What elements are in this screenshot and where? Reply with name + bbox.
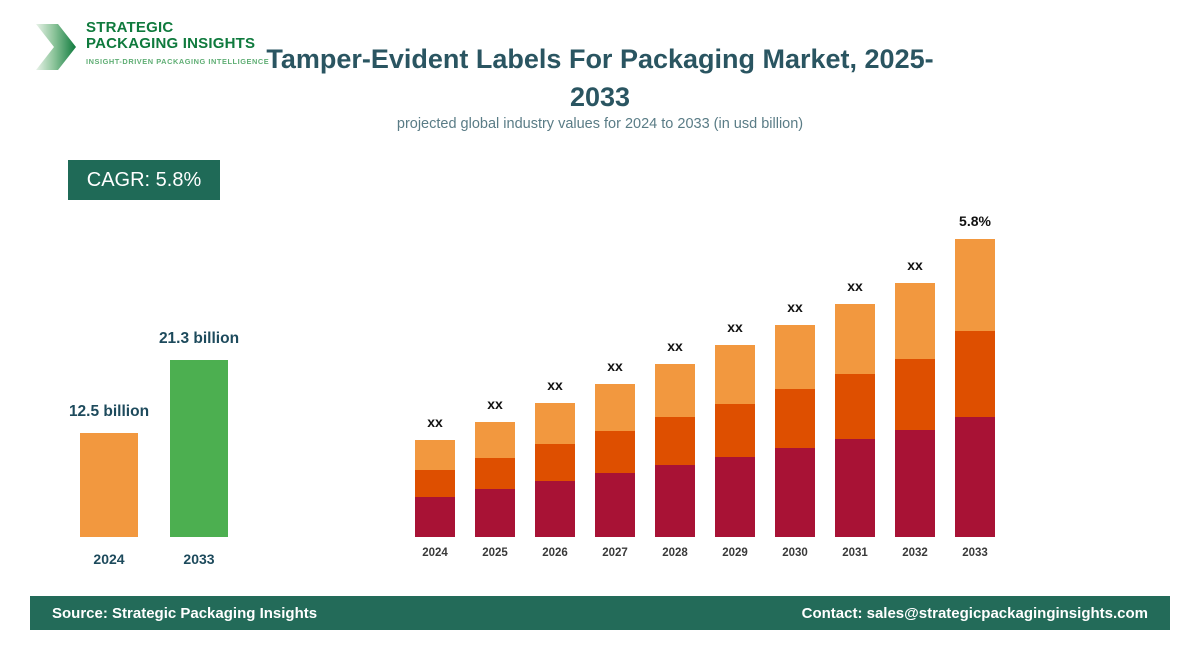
brand-logo: STRATEGIC PACKAGING INSIGHTS INSIGHT-DRI…: [30, 18, 260, 80]
bar-segment-segment-3-2027: [595, 384, 635, 431]
stacked-bar-2032: xx2032: [895, 283, 935, 537]
bar-segment-segment-3-2032: [895, 283, 935, 359]
stacked-bar-value-label-2026: xx: [510, 377, 600, 393]
bar-value-label-2024: 12.5 billion: [34, 403, 184, 421]
bar-segment-segment-1-2032: [895, 430, 935, 537]
bar-year-label-2024: 2024: [59, 551, 159, 567]
bar-segment-segment-3-2029: [715, 345, 755, 404]
stacked-bar-2028: xx2028: [655, 364, 695, 537]
bar-segment-segment-3-2031: [835, 304, 875, 374]
bar-segment-segment-2-2025: [475, 458, 515, 489]
footer-source: Source: Strategic Packaging Insights: [52, 605, 317, 622]
bar-segment-segment-1-2028: [655, 465, 695, 537]
stacked-bar-value-label-2033: 5.8%: [930, 213, 1020, 229]
bar-segment-segment-1-2027: [595, 473, 635, 537]
bar-segment-segment-1-2031: [835, 439, 875, 537]
bar-segment-segment-2-2024: [415, 470, 455, 497]
bar-segment-segment-1-2029: [715, 457, 755, 537]
bar-segment-segment-1-2024: [415, 497, 455, 537]
stacked-bar-value-label-2024: xx: [390, 414, 480, 430]
bar-segment-segment-2-2032: [895, 359, 935, 430]
chevron-logo-icon: [34, 22, 78, 72]
bar-2024: 12.5 billion2024: [80, 433, 138, 537]
bar-segment-segment-1-2030: [775, 448, 815, 537]
page-title: Tamper-Evident Labels For Packaging Mark…: [250, 40, 950, 116]
stacked-bar-2027: xx2027: [595, 384, 635, 537]
stacked-bar-2026: xx2026: [535, 403, 575, 537]
stacked-bar-value-label-2030: xx: [750, 299, 840, 315]
stacked-bar-value-label-2029: xx: [690, 319, 780, 335]
stacked-bar-value-label-2028: xx: [630, 338, 720, 354]
bar-segment-segment-2-2027: [595, 431, 635, 473]
bar-segment-segment-2-2029: [715, 404, 755, 457]
bar-segment-segment-3-2024: [415, 440, 455, 470]
stacked-bar-2025: xx2025: [475, 422, 515, 537]
bar-segment-segment-2-2028: [655, 417, 695, 465]
logo-line-2: PACKAGING INSIGHTS: [86, 36, 261, 52]
bar-segment-segment-2-2033: [955, 331, 995, 417]
segment-forecast-chart: xx2024xx2025xx2026xx2027xx2028xx2029xx20…: [405, 200, 1005, 575]
logo-tagline: INSIGHT-DRIVEN PACKAGING INTELLIGENCE: [86, 57, 261, 66]
bar-value-label-2033: 21.3 billion: [124, 330, 274, 348]
bar-segment-segment-3-2026: [535, 403, 575, 444]
cagr-badge: CAGR: 5.8%: [68, 160, 220, 200]
stacked-bar-2024: xx2024: [415, 440, 455, 537]
bar-2033: 21.3 billion2033: [170, 360, 228, 538]
bar-segment-segment-3-2033: [955, 239, 995, 331]
endpoint-comparison-chart: 12.5 billion202421.3 billion2033: [40, 300, 300, 575]
stacked-bar-year-label-2033: 2033: [930, 547, 1020, 559]
footer-contact: Contact: sales@strategicpackaginginsight…: [802, 605, 1148, 622]
bar-segment-segment-2-2030: [775, 389, 815, 448]
bar-segment-segment-1-2026: [535, 481, 575, 537]
bar-segment-segment-3-2030: [775, 325, 815, 389]
bar-segment-segment-2-2026: [535, 444, 575, 481]
bar-segment-segment-1-2033: [955, 417, 995, 537]
bar-segment-segment-3-2028: [655, 364, 695, 417]
stacked-bar-2031: xx2031: [835, 304, 875, 537]
stacked-bar-2029: xx2029: [715, 345, 755, 537]
logo-line-1: STRATEGIC: [86, 20, 261, 36]
footer-bar: Source: Strategic Packaging Insights Con…: [30, 596, 1170, 630]
stacked-bar-value-label-2025: xx: [450, 396, 540, 412]
bar-segment-segment-1-2025: [475, 489, 515, 537]
stacked-bar-value-label-2031: xx: [810, 278, 900, 294]
bar-segment-segment-2-2031: [835, 374, 875, 439]
bar-year-label-2033: 2033: [149, 551, 249, 567]
stacked-bar-2030: xx2030: [775, 325, 815, 537]
bar-segment-segment-3-2025: [475, 422, 515, 458]
stacked-bar-value-label-2032: xx: [870, 257, 960, 273]
stacked-bar-value-label-2027: xx: [570, 358, 660, 374]
page-subtitle: projected global industry values for 202…: [250, 116, 950, 132]
stacked-bar-2033: 5.8%2033: [955, 239, 995, 537]
